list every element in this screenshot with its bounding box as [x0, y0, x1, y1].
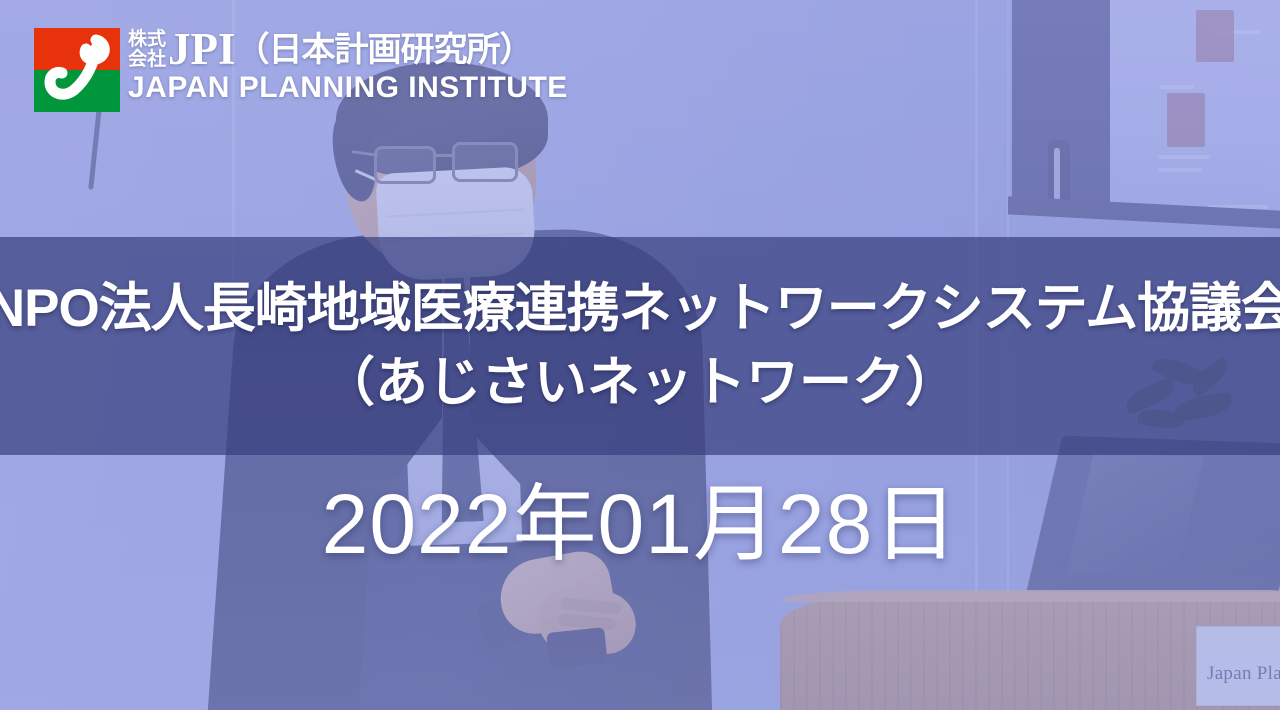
brand-english-name: JAPAN PLANNING INSTITUTE	[128, 72, 568, 104]
kabushiki-gaisha-label: 株式 会社	[128, 30, 166, 70]
seminar-title-line1: NPO法人長崎地域医療連携ネットワークシステム協議会	[0, 276, 1280, 342]
jpi-logo-text: 株式 会社 JPI （日本計画研究所） JAPAN PLANNING INSTI…	[128, 28, 568, 104]
brand-abbrev: JPI	[168, 28, 236, 70]
title-card: Japan Plann 株式 会社 JPI （日本計画研究所）	[0, 0, 1280, 710]
seminar-date: 2022年01月28日	[0, 478, 1280, 570]
title-band: NPO法人長崎地域医療連携ネットワークシステム協議会 （あじさいネットワーク）	[0, 237, 1280, 455]
jpi-logo-mark-icon	[34, 28, 120, 112]
seminar-title-line2: （あじさいネットワーク）	[322, 350, 958, 416]
brand-japanese-name: （日本計画研究所）	[236, 30, 533, 70]
jpi-logo: 株式 会社 JPI （日本計画研究所） JAPAN PLANNING INSTI…	[34, 28, 568, 112]
